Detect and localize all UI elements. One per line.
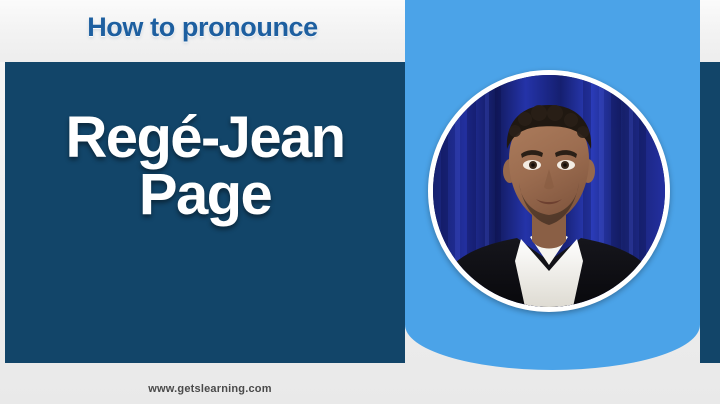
accent-strip-navy-right <box>700 62 720 363</box>
avatar-image-clip <box>433 75 665 307</box>
portrait-illustration <box>433 75 665 307</box>
page-title-line-1: Regé-Jean <box>5 110 405 167</box>
avatar <box>428 70 670 312</box>
page-title-line-2: Page <box>5 167 405 224</box>
footer-website-url: www.getslearning.com <box>0 383 420 395</box>
header-title: How to pronounce <box>0 12 405 43</box>
title-panel: Regé-Jean Page <box>5 62 405 363</box>
video-thumbnail-canvas: How to pronounce Regé-Jean Page <box>0 0 720 404</box>
page-title: Regé-Jean Page <box>5 110 405 224</box>
